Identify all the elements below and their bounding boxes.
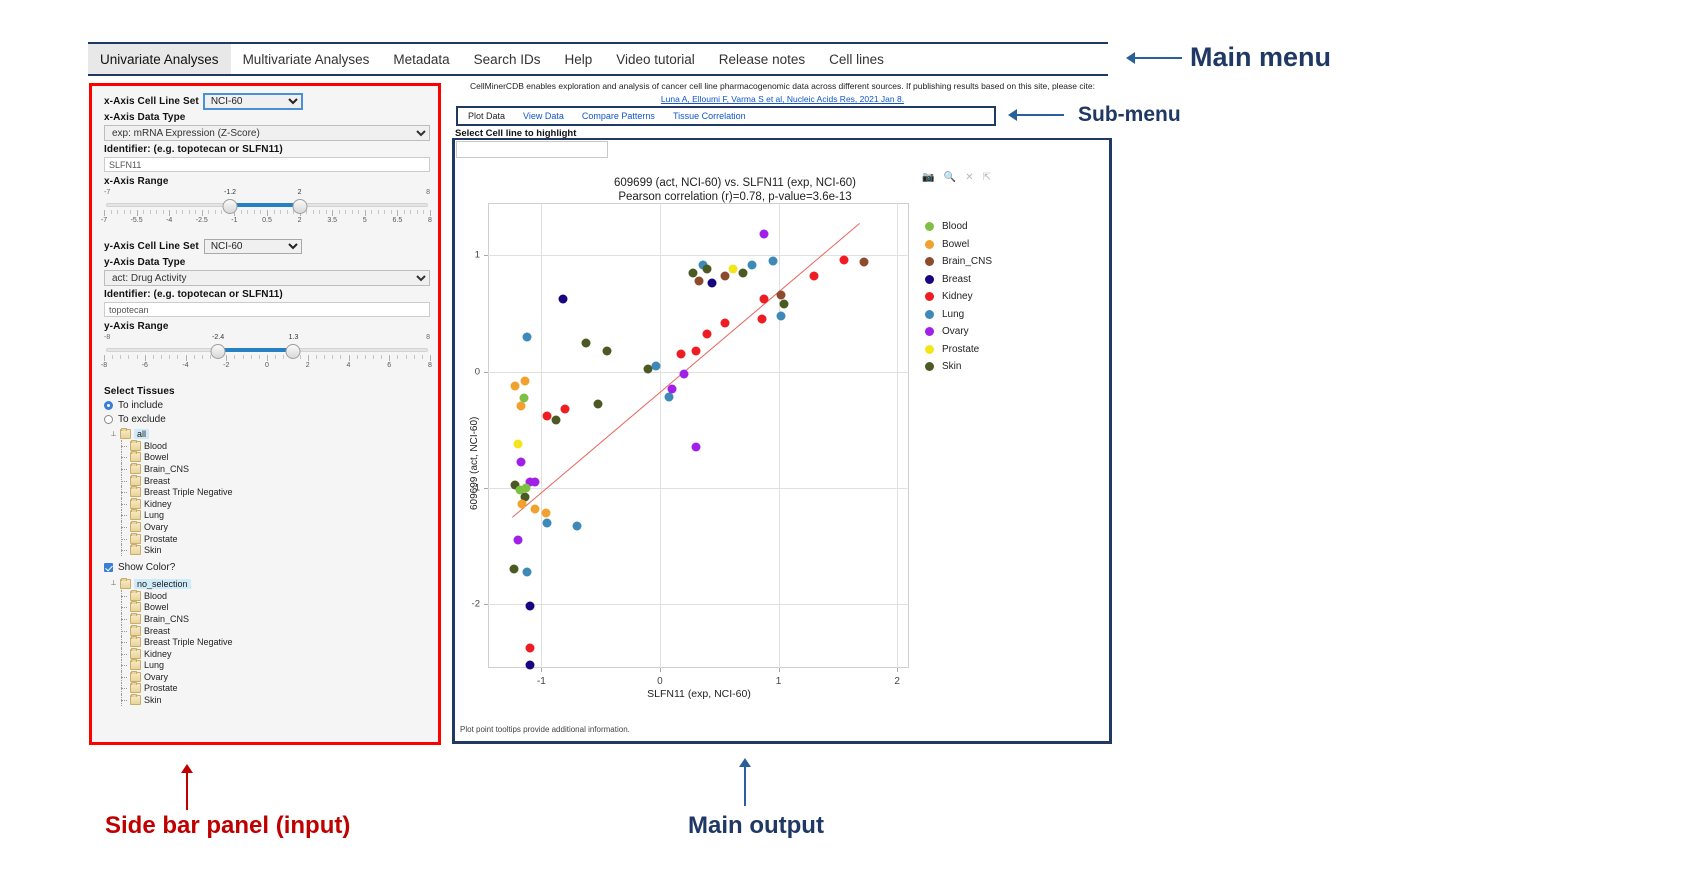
tissue-include-item-label: Bowel: [144, 452, 169, 462]
radio-to-include[interactable]: To include: [104, 400, 430, 411]
arrow-main-output-head: [739, 758, 751, 767]
y-range-tick: [104, 355, 105, 361]
x-data-type-select[interactable]: exp: mRNA Expression (Z-Score): [104, 125, 430, 141]
y-range-tick-label: -8: [101, 362, 107, 369]
x-range-tick: [352, 210, 353, 214]
tissue-include-root[interactable]: ⊥all: [104, 429, 430, 439]
x-cell-line-set-row: x-Axis Cell Line Set NCI-60: [104, 94, 430, 109]
folder-icon: [130, 591, 141, 601]
tissue-color-item-label: Kidney: [144, 649, 172, 659]
x-range-tick: [150, 210, 151, 214]
menu-item-video-tutorial[interactable]: Video tutorial: [604, 44, 707, 74]
x-range-tick: [169, 210, 170, 216]
scatter-point[interactable]: [757, 315, 766, 324]
x-range-tick: [358, 210, 359, 214]
y-range-tick: [120, 355, 121, 359]
y-identifier-input[interactable]: [104, 302, 430, 317]
x-cell-line-set-label: x-Axis Cell Line Set: [104, 96, 199, 107]
scatter-point[interactable]: [531, 478, 540, 487]
x-range-tick: [365, 210, 366, 216]
x-range-tick-label: -7: [101, 217, 107, 224]
tissue-include-item-label: Kidney: [144, 499, 172, 509]
scatter-point[interactable]: [572, 522, 581, 531]
y-gridline: [488, 604, 909, 605]
legend-item-brain_cns[interactable]: Brain_CNS: [925, 253, 992, 271]
x-data-type-label: x-Axis Data Type: [104, 112, 430, 123]
x-axis-label: SLFN11 (exp, NCI-60): [647, 688, 751, 700]
menu-item-univariate-analyses[interactable]: Univariate Analyses: [88, 44, 231, 74]
y-range-tick: [340, 355, 341, 359]
legend-item-breast[interactable]: Breast: [925, 271, 992, 289]
citation-text: CellMinerCDB enables exploration and ana…: [455, 80, 1110, 93]
scatter-point[interactable]: [721, 318, 730, 327]
y-range-tick: [397, 355, 398, 359]
scatter-point[interactable]: [558, 295, 567, 304]
menu-item-search-ids[interactable]: Search IDs: [462, 44, 553, 74]
plot-card: 📷 🔍 ✕ ⇱ 609699 (act, NCI-60) vs. SLFN11 …: [455, 140, 1109, 740]
x-range-tick: [319, 210, 320, 214]
scatter-point[interactable]: [721, 272, 730, 281]
scatter-point[interactable]: [677, 350, 686, 359]
y-range-tick: [145, 355, 146, 361]
scatter-point[interactable]: [525, 660, 534, 669]
legend-item-skin[interactable]: Skin: [925, 358, 992, 376]
scatter-point[interactable]: [582, 338, 591, 347]
tissue-color-item[interactable]: Ovary: [104, 671, 430, 683]
x-range-tick: [430, 210, 431, 216]
annotation-sidebar: Side bar panel (input): [105, 812, 350, 840]
y-range-tick: [210, 355, 211, 359]
x-range-tick: [423, 210, 424, 214]
y-cell-line-set-row: y-Axis Cell Line Set NCI-60: [104, 239, 430, 254]
folder-icon: [130, 476, 141, 486]
scatter-point[interactable]: [523, 567, 532, 576]
x-tickmark: [541, 668, 542, 672]
folder-icon: [130, 464, 141, 474]
y-range-tick: [251, 355, 252, 359]
folder-icon: [130, 637, 141, 647]
tissue-color-item[interactable]: Blood: [104, 590, 430, 602]
x-range-ticks: [104, 210, 430, 216]
plot-title-block: 609699 (act, NCI-60) vs. SLFN11 (exp, NC…: [485, 176, 985, 205]
legend-item-prostate[interactable]: Prostate: [925, 341, 992, 359]
menu-item-metadata[interactable]: Metadata: [381, 44, 461, 74]
legend-label: Skin: [942, 361, 961, 372]
scatter-point[interactable]: [859, 258, 868, 267]
arrow-sidebar-head: [181, 764, 193, 773]
submenu-item-view-data[interactable]: View Data: [523, 111, 564, 121]
y-tick-label: 1: [475, 250, 480, 261]
scatter-point[interactable]: [760, 230, 769, 239]
folder-icon: [130, 534, 141, 544]
y-range-fill: [218, 348, 293, 352]
legend-color-swatch: [925, 292, 934, 301]
y-gridline: [488, 488, 909, 489]
x-range-tick: [391, 210, 392, 214]
x-range-tick: [104, 210, 105, 216]
y-range-tick-label: -2: [223, 362, 229, 369]
x-tick-label: 2: [894, 676, 900, 687]
tree-expander-icon[interactable]: ⊥: [110, 580, 117, 587]
tissue-color-item-label: Ovary: [144, 672, 168, 682]
scatter-point[interactable]: [517, 458, 526, 467]
y-range-edge-min: -8: [104, 334, 110, 341]
radio-exclude-label: To exclude: [118, 414, 166, 425]
x-range-tick: [339, 210, 340, 214]
x-gridline: [660, 203, 661, 668]
annotation-main-output: Main output: [688, 812, 824, 840]
scatter-point[interactable]: [602, 346, 611, 355]
y-range-slider[interactable]: -88-8-6-4-202468-2.41.3: [104, 334, 430, 378]
tissue-color-item-label: Bowel: [144, 602, 169, 612]
scatter-point[interactable]: [810, 272, 819, 281]
x-range-tick-labels: -7-5.5-4-2.5-10.523.556.58: [104, 217, 430, 229]
citation-link[interactable]: Luna A, Elloumi F, Varma S et al, Nuclei…: [661, 94, 904, 104]
scatter-plot-area[interactable]: -1012-2-101: [488, 203, 909, 668]
tissue-include-item[interactable]: Prostate: [104, 533, 430, 545]
y-range-tick-labels: -8-6-4-202468: [104, 362, 430, 374]
arrow-main-menu-head: [1126, 52, 1135, 64]
show-color-label: Show Color?: [118, 562, 175, 573]
y-range-tick: [226, 355, 227, 361]
scatter-point[interactable]: [518, 500, 527, 509]
x-range-tick-label: 2: [298, 217, 302, 224]
menu-item-multivariate-analyses[interactable]: Multivariate Analyses: [231, 44, 382, 74]
x-gridline: [541, 203, 542, 668]
legend-item-ovary[interactable]: Ovary: [925, 323, 992, 341]
scatter-point[interactable]: [561, 404, 570, 413]
y-range-tick: [365, 355, 366, 359]
tissue-color-item[interactable]: Kidney: [104, 648, 430, 660]
x-range-value-high: 2: [298, 189, 302, 196]
x-range-tick: [202, 210, 203, 216]
scatter-point[interactable]: [513, 536, 522, 545]
y-range-tick: [177, 355, 178, 359]
scatter-point[interactable]: [780, 300, 789, 309]
y-range-handle-high[interactable]: [286, 344, 301, 359]
citation-block: CellMinerCDB enables exploration and ana…: [455, 80, 1110, 106]
scatter-point[interactable]: [738, 268, 747, 277]
scatter-point[interactable]: [691, 443, 700, 452]
x-range-tick-label: -4: [166, 217, 172, 224]
folder-icon: [120, 579, 131, 589]
x-range-tick: [117, 210, 118, 214]
tissue-color-item-label: Prostate: [144, 683, 178, 693]
folder-icon: [130, 441, 141, 451]
scatter-point[interactable]: [760, 295, 769, 304]
radio-exclude-icon: [104, 415, 113, 424]
submenu-item-plot-data[interactable]: Plot Data: [468, 111, 505, 121]
scatter-point[interactable]: [839, 255, 848, 264]
y-range-tick: [153, 355, 154, 359]
tissue-include-item[interactable]: Skin: [104, 544, 430, 556]
folder-icon: [130, 499, 141, 509]
y-range-tick: [194, 355, 195, 359]
x-range-slider[interactable]: -78-7-5.5-4-2.5-10.523.556.58-1.22: [104, 189, 430, 233]
arrow-sub-menu-line: [1010, 114, 1064, 116]
y-data-type-select[interactable]: act: Drug Activity: [104, 270, 430, 286]
legend-color-swatch: [925, 240, 934, 249]
x-range-tick: [111, 210, 112, 214]
y-range-value-low: -2.4: [212, 334, 224, 341]
x-range-tick: [332, 210, 333, 216]
tissue-color-item-label: Lung: [144, 660, 164, 670]
scatter-point[interactable]: [513, 439, 522, 448]
x-range-tick: [143, 210, 144, 214]
x-range-tick-label: -5.5: [131, 217, 143, 224]
tissue-include-item-label: Breast: [144, 476, 170, 486]
x-range-tick: [260, 210, 261, 214]
folder-icon: [130, 683, 141, 693]
y-data-type-label: y-Axis Data Type: [104, 257, 430, 268]
sidebar-panel: x-Axis Cell Line Set NCI-60 x-Axis Data …: [92, 86, 438, 742]
arrow-main-menu-line: [1128, 57, 1182, 59]
y-range-tick-label: 6: [387, 362, 391, 369]
folder-icon: [130, 660, 141, 670]
x-tickmark: [779, 668, 780, 672]
show-color-checkbox[interactable]: Show Color?: [104, 562, 430, 573]
tissue-color-item[interactable]: Bowel: [104, 602, 430, 614]
y-range-tick-label: 2: [306, 362, 310, 369]
y-range-tick-label: -4: [182, 362, 188, 369]
x-range-tick: [137, 210, 138, 216]
tissue-tree-include[interactable]: ⊥allBloodBowelBrain_CNSBreastBreast Trip…: [104, 429, 430, 556]
x-range-tick: [280, 210, 281, 214]
sub-menu[interactable]: Plot DataView DataCompare PatternsTissue…: [458, 108, 994, 124]
select-cell-line-label: Select Cell line to highlight: [455, 128, 576, 139]
x-range-tick: [163, 210, 164, 214]
scatter-point[interactable]: [525, 602, 534, 611]
legend-color-swatch: [925, 310, 934, 319]
tree-expander-icon[interactable]: ⊥: [110, 431, 117, 438]
scatter-point[interactable]: [703, 330, 712, 339]
x-range-tick: [221, 210, 222, 214]
radio-include-label: To include: [118, 400, 163, 411]
tissue-include-item[interactable]: Blood: [104, 440, 430, 452]
legend-color-swatch: [925, 275, 934, 284]
scatter-point[interactable]: [594, 400, 603, 409]
x-range-tick-label: -1: [231, 217, 237, 224]
legend-label: Lung: [942, 309, 964, 320]
x-range-tick: [378, 210, 379, 214]
tissue-include-item-label: Breast Triple Negative: [144, 487, 233, 497]
tissue-tree-color[interactable]: ⊥no_selectionBloodBowelBrain_CNSBreastBr…: [104, 579, 430, 706]
scatter-point[interactable]: [652, 361, 661, 370]
x-range-tick: [287, 210, 288, 214]
scatter-point[interactable]: [525, 644, 534, 653]
x-tick-label: 1: [776, 676, 782, 687]
x-range-tick: [208, 210, 209, 214]
submenu-item-compare-patterns[interactable]: Compare Patterns: [582, 111, 655, 121]
x-range-tick: [182, 210, 183, 214]
tissue-include-root-label: all: [134, 429, 149, 439]
legend-label: Kidney: [942, 291, 973, 302]
tissue-color-item-label: Blood: [144, 591, 167, 601]
select-cell-line-input[interactable]: [456, 141, 608, 158]
tissue-include-item[interactable]: Brain_CNS: [104, 463, 430, 475]
scatter-point[interactable]: [531, 504, 540, 513]
x-range-tick: [176, 210, 177, 214]
tissue-color-item[interactable]: Breast Triple Negative: [104, 636, 430, 648]
checkbox-icon: [104, 563, 113, 572]
x-tickmark: [660, 668, 661, 672]
scatter-point[interactable]: [708, 279, 717, 288]
scatter-point[interactable]: [748, 260, 757, 269]
tissue-color-item[interactable]: Breast: [104, 625, 430, 637]
y-range-tick: [316, 355, 317, 359]
x-range-tick: [274, 210, 275, 214]
y-range-handle-low[interactable]: [211, 344, 226, 359]
y-tickmark: [484, 604, 488, 605]
x-range-tick: [397, 210, 398, 216]
scatter-point[interactable]: [768, 257, 777, 266]
folder-icon: [130, 649, 141, 659]
legend-label: Bowel: [942, 239, 969, 250]
menu-item-cell-lines[interactable]: Cell lines: [817, 44, 896, 74]
tissue-color-item-label: Skin: [144, 695, 162, 705]
tissue-include-item[interactable]: Bowel: [104, 452, 430, 464]
y-gridline: [488, 372, 909, 373]
y-range-tick: [275, 355, 276, 359]
x-cell-line-set-select[interactable]: NCI-60: [204, 94, 302, 109]
folder-icon: [130, 614, 141, 624]
plot-title: 609699 (act, NCI-60) vs. SLFN11 (exp, NC…: [485, 176, 985, 190]
legend-label: Blood: [942, 221, 968, 232]
x-range-handle-high[interactable]: [292, 199, 307, 214]
x-range-tick: [306, 210, 307, 214]
tissue-color-item[interactable]: Skin: [104, 694, 430, 706]
y-range-ticks: [104, 355, 430, 361]
tissue-color-root[interactable]: ⊥no_selection: [104, 579, 430, 589]
legend-item-kidney[interactable]: Kidney: [925, 288, 992, 306]
y-range-tick: [169, 355, 170, 359]
scatter-point[interactable]: [776, 290, 785, 299]
y-range-tick: [243, 355, 244, 359]
tissue-include-item[interactable]: Breast Triple Negative: [104, 486, 430, 498]
x-range-fill: [230, 203, 300, 207]
folder-icon: [130, 452, 141, 462]
scatter-point[interactable]: [523, 332, 532, 341]
scatter-point[interactable]: [695, 276, 704, 285]
menu-item-help[interactable]: Help: [552, 44, 604, 74]
y-range-tick: [283, 355, 284, 359]
tissue-include-item[interactable]: Kidney: [104, 498, 430, 510]
y-range-tick: [259, 355, 260, 359]
x-gridline: [897, 203, 898, 668]
scatter-point[interactable]: [511, 381, 520, 390]
tissue-color-root-label: no_selection: [134, 579, 191, 589]
annotation-main-menu: Main menu: [1190, 42, 1331, 73]
scatter-point[interactable]: [679, 369, 688, 378]
y-range-value-high: 1.3: [289, 334, 299, 341]
y-range-tick: [234, 355, 235, 359]
legend-label: Prostate: [942, 344, 979, 355]
y-tickmark: [484, 255, 488, 256]
x-range-value-low: -1.2: [224, 189, 236, 196]
scatter-point[interactable]: [520, 376, 529, 385]
legend-item-bowel[interactable]: Bowel: [925, 236, 992, 254]
legend-color-swatch: [925, 327, 934, 336]
scatter-point[interactable]: [521, 483, 530, 492]
tissue-color-item-label: Breast: [144, 626, 170, 636]
y-range-tick: [202, 355, 203, 359]
arrow-sidebar-line: [186, 770, 188, 810]
main-menu[interactable]: Univariate AnalysesMultivariate Analyses…: [88, 44, 1108, 74]
y-range-tick: [406, 355, 407, 359]
scatter-point[interactable]: [691, 346, 700, 355]
tissue-color-item-label: Brain_CNS: [144, 614, 189, 624]
legend-color-swatch: [925, 222, 934, 231]
x-range-tick: [404, 210, 405, 214]
tissue-include-item-label: Lung: [144, 510, 164, 520]
scatter-point[interactable]: [517, 402, 526, 411]
x-identifier-input[interactable]: [104, 157, 430, 172]
x-range-tick: [267, 210, 268, 216]
y-range-tick: [332, 355, 333, 359]
tissue-include-item[interactable]: Ovary: [104, 521, 430, 533]
legend-item-blood[interactable]: Blood: [925, 218, 992, 236]
x-range-tick-label: -2.5: [196, 217, 208, 224]
radio-to-exclude[interactable]: To exclude: [104, 414, 430, 425]
tissue-color-item[interactable]: Lung: [104, 660, 430, 672]
y-range-tick-label: 4: [347, 362, 351, 369]
legend-label: Breast: [942, 274, 971, 285]
submenu-item-tissue-correlation[interactable]: Tissue Correlation: [673, 111, 746, 121]
folder-icon: [130, 695, 141, 705]
y-cell-line-set-select[interactable]: NCI-60: [204, 239, 302, 254]
y-range-tick: [373, 355, 374, 359]
scatter-point[interactable]: [665, 393, 674, 402]
y-range-tick: [128, 355, 129, 359]
x-range-edge-max: 8: [426, 189, 430, 196]
y-range-tick-label: -6: [142, 362, 148, 369]
radio-include-icon: [104, 401, 113, 410]
scatter-point[interactable]: [542, 509, 551, 518]
tissue-include-item-label: Skin: [144, 545, 162, 555]
tissue-color-item[interactable]: Brain_CNS: [104, 613, 430, 625]
x-tick-label: -1: [537, 676, 546, 687]
scatter-point[interactable]: [776, 311, 785, 320]
legend-color-swatch: [925, 345, 934, 354]
legend-item-lung[interactable]: Lung: [925, 306, 992, 324]
arrow-sub-menu-head: [1008, 109, 1017, 121]
annotation-sub-menu: Sub-menu: [1078, 103, 1181, 127]
scatter-point[interactable]: [543, 518, 552, 527]
scatter-point[interactable]: [729, 265, 738, 274]
scatter-point[interactable]: [551, 416, 560, 425]
y-range-label: y-Axis Range: [104, 321, 430, 332]
x-range-handle-low[interactable]: [223, 199, 238, 214]
y-range-tick: [186, 355, 187, 361]
folder-icon: [130, 510, 141, 520]
folder-icon: [130, 487, 141, 497]
select-tissues-label: Select Tissues: [104, 386, 430, 397]
y-tick-label: 0: [475, 366, 480, 377]
y-range-tick: [308, 355, 309, 361]
x-range-tick-label: 8: [428, 217, 432, 224]
tissue-include-item[interactable]: Breast: [104, 475, 430, 487]
y-range-tick: [161, 355, 162, 359]
scatter-point[interactable]: [703, 265, 712, 274]
tissue-include-item-label: Blood: [144, 441, 167, 451]
x-range-tick-label: 0.5: [262, 217, 272, 224]
tissue-include-item-label: Brain_CNS: [144, 464, 189, 474]
tissue-include-item[interactable]: Lung: [104, 510, 430, 522]
x-range-tick: [313, 210, 314, 214]
tissue-color-item[interactable]: Prostate: [104, 683, 430, 695]
menu-item-release-notes[interactable]: Release notes: [707, 44, 817, 74]
scatter-point[interactable]: [510, 565, 519, 574]
